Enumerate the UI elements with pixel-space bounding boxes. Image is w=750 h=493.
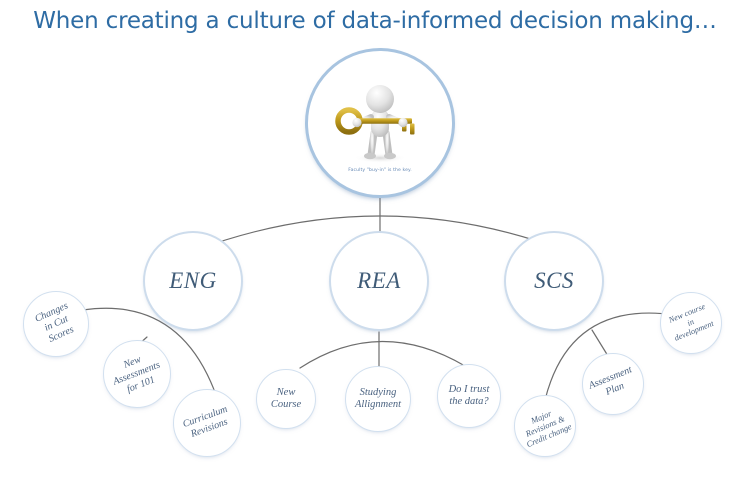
- stick-figure-with-key-icon: [324, 77, 436, 165]
- leaf-label-assessment-plan: Assessment Plan: [587, 365, 638, 404]
- slide-canvas: When creating a culture of data-informed…: [0, 0, 750, 493]
- connector-rea-arc: [300, 341, 465, 368]
- leaf-label-studying-alignment: Studying Allignment: [355, 387, 401, 412]
- hub-caption: Faculty "buy-in" is the key.: [348, 168, 412, 173]
- leaf-label-new-course-in-development: New course in development: [666, 302, 715, 344]
- leaf-label-major-revisions: Major Revisions & Credit change: [517, 403, 573, 449]
- discipline-node-scs[interactable]: SCS: [504, 231, 604, 331]
- discipline-node-eng[interactable]: ENG: [143, 231, 243, 331]
- connector-scs-plan: [592, 330, 608, 356]
- discipline-label-eng: ENG: [169, 268, 217, 294]
- discipline-label-rea: REA: [357, 268, 401, 294]
- leaf-node-major-revisions[interactable]: Major Revisions & Credit change: [514, 395, 576, 457]
- leaf-node-new-course-in-development[interactable]: New course in development: [660, 292, 722, 354]
- leaf-node-curriculum-revisions[interactable]: Curriculum Revisions: [173, 389, 241, 457]
- leaf-node-studying-alignment[interactable]: Studying Allignment: [345, 366, 411, 432]
- leaf-label-trust-the-data: Do I trust the data?: [449, 384, 490, 409]
- discipline-node-rea[interactable]: REA: [329, 231, 429, 331]
- discipline-label-scs: SCS: [534, 268, 574, 294]
- leaf-label-curriculum-revisions: Curriculum Revisions: [181, 404, 233, 442]
- leaf-node-assessment-plan[interactable]: Assessment Plan: [582, 353, 644, 415]
- leaf-label-cut-scores: Changes in Cut Scores: [33, 301, 79, 348]
- center-node-faculty-buy-in[interactable]: Faculty "buy-in" is the key.: [305, 48, 455, 198]
- leaf-node-cut-scores[interactable]: Changes in Cut Scores: [23, 291, 89, 357]
- leaf-label-new-course: New Course: [271, 387, 301, 412]
- leaf-node-new-assessments[interactable]: New Assessments for 101: [103, 340, 171, 408]
- leaf-label-new-assessments: New Assessments for 101: [108, 349, 167, 400]
- leaf-node-trust-the-data[interactable]: Do I trust the data?: [437, 364, 501, 428]
- leaf-node-new-course[interactable]: New Course: [256, 369, 316, 429]
